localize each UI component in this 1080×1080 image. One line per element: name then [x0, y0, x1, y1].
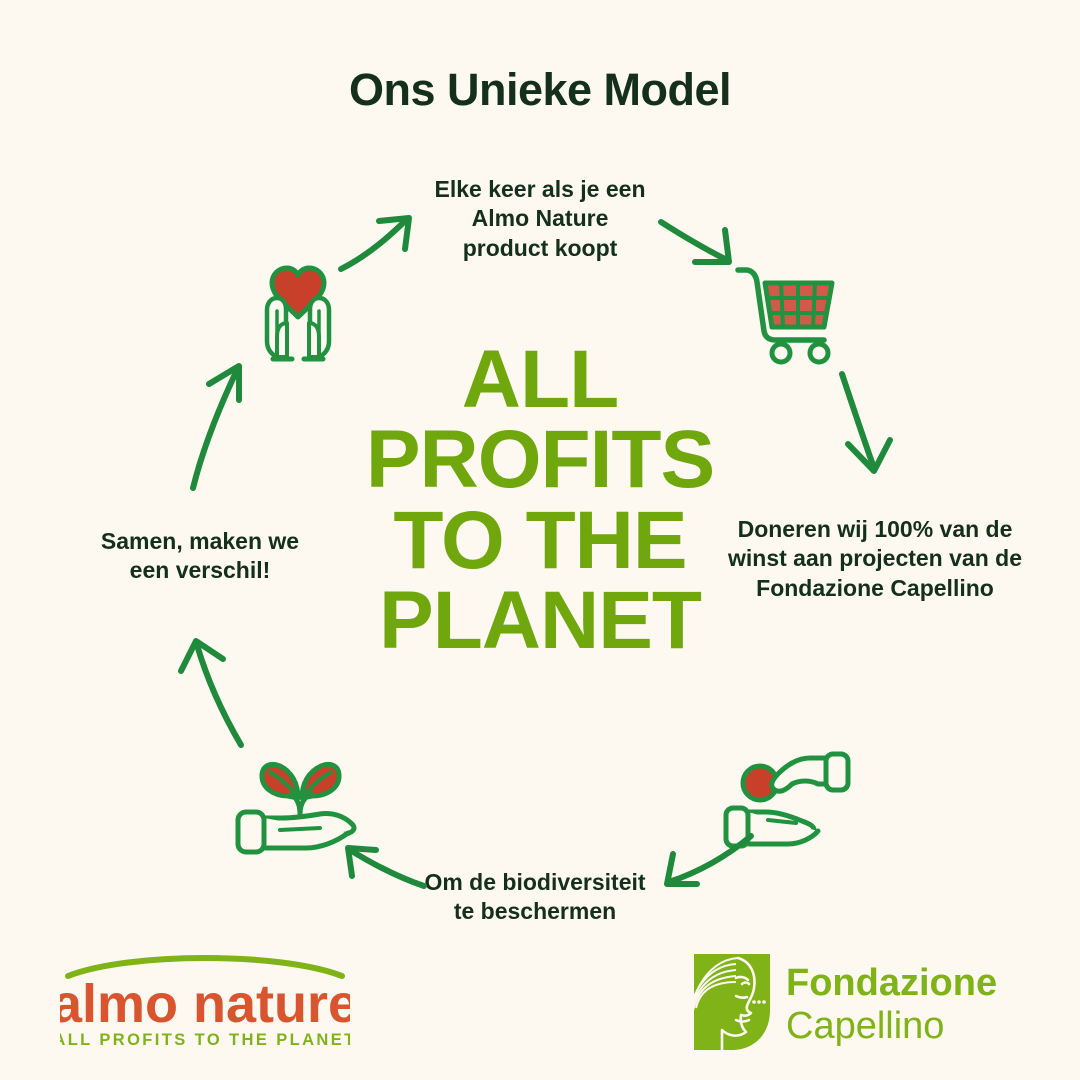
- caption-donate-line-1: Doneren wij 100% van de: [715, 515, 1035, 544]
- fondazione-emblem: [692, 954, 770, 1050]
- infographic-canvas: Ons Unieke Model ALL PROFITS TO THE PLAN…: [0, 0, 1080, 1080]
- center-headline-line-3: TO THE: [300, 501, 780, 581]
- almo-nature-logo: almo nature ALL PROFITS TO THE PLANET: [60, 950, 350, 1050]
- center-headline-line-1: ALL: [300, 340, 780, 420]
- arrow-to-cart-icon: [655, 210, 765, 295]
- center-headline-line-2: PROFITS: [300, 420, 780, 500]
- arrow-to-heart-icon: [165, 360, 275, 500]
- almo-nature-logo-name: almo nature: [60, 974, 350, 1034]
- caption-together-line-1: Samen, maken we: [55, 527, 345, 556]
- arrow-to-biodiversity-caption: [655, 830, 765, 905]
- arrow-to-together-caption: [165, 625, 275, 755]
- caption-biodiversity-line-2: te beschermen: [395, 897, 675, 926]
- arrow-to-donate-caption: [820, 370, 920, 495]
- fondazione-logo-line-1: Fondazione: [786, 962, 997, 1004]
- caption-biodiversity-line-1: Om de biodiversiteit: [395, 868, 675, 897]
- page-title: Ons Unieke Model: [0, 64, 1080, 116]
- caption-biodiversity: Om de biodiversiteit te beschermen: [395, 868, 675, 927]
- caption-donate-line-3: Fondazione Capellino: [715, 574, 1035, 603]
- caption-donate: Doneren wij 100% van de winst aan projec…: [715, 515, 1035, 603]
- fondazione-capellino-logo: Fondazione Capellino: [692, 950, 1027, 1055]
- caption-purchase-line-2: Almo Nature: [390, 204, 690, 233]
- caption-purchase-line-3: product koopt: [390, 234, 690, 263]
- center-headline: ALL PROFITS TO THE PLANET: [300, 340, 780, 661]
- caption-together-line-2: een verschil!: [55, 556, 345, 585]
- arrow-to-plant-icon: [340, 840, 430, 905]
- almo-nature-logo-tagline: ALL PROFITS TO THE PLANET: [60, 1031, 350, 1049]
- caption-purchase-line-1: Elke keer als je een: [390, 175, 690, 204]
- arrow-to-purchase-icon: [335, 205, 435, 290]
- center-headline-line-4: PLANET: [300, 581, 780, 661]
- caption-purchase: Elke keer als je een Almo Nature product…: [390, 175, 690, 263]
- caption-together: Samen, maken we een verschil!: [55, 527, 345, 586]
- caption-donate-line-2: winst aan projecten van de: [715, 544, 1035, 573]
- fondazione-logo-line-2: Capellino: [786, 1005, 944, 1047]
